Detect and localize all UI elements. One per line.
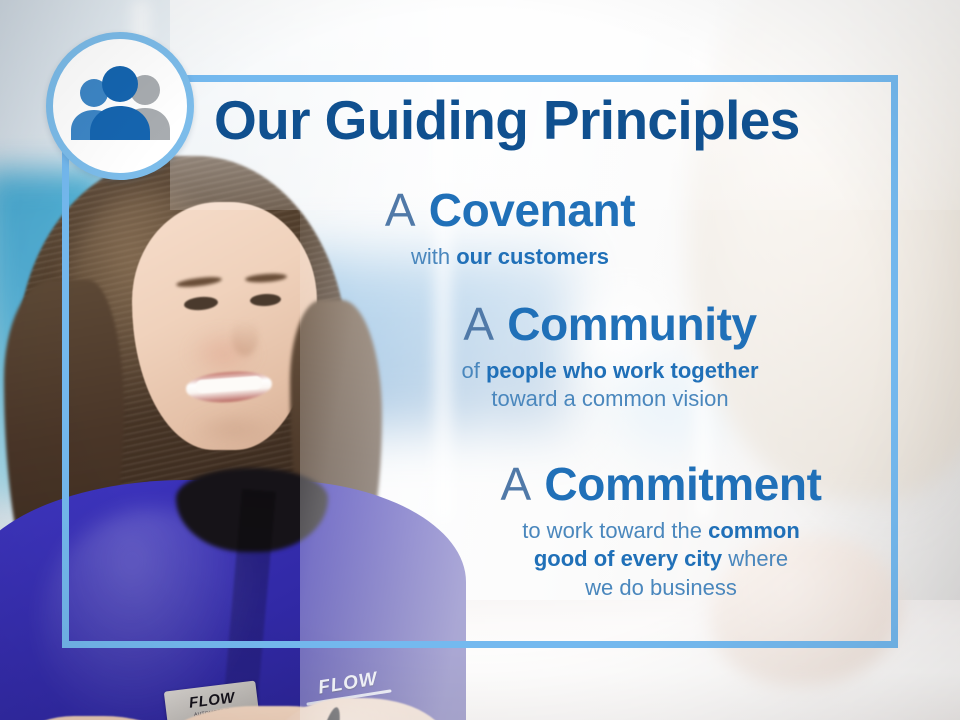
principle-commitment: A Commitment to work toward the commongo… <box>446 460 876 603</box>
chin-shadow <box>188 412 278 446</box>
subtitle-line: toward a common vision <box>400 385 820 414</box>
principle-article: A <box>463 298 494 350</box>
subtitle-line: with our customers <box>330 243 690 272</box>
principle-subtitle: with our customers <box>330 243 690 272</box>
nose <box>232 320 258 356</box>
principle-title: A Covenant <box>330 186 690 235</box>
subtitle-line: good of every city where <box>446 545 876 574</box>
principle-keyword: Covenant <box>429 184 635 236</box>
people-group-icon <box>66 66 174 146</box>
people-icon-badge <box>46 32 194 180</box>
principle-keyword: Community <box>507 298 756 350</box>
principle-community: A Community of people who work togethert… <box>400 300 820 414</box>
page-title: Our Guiding Principles <box>214 92 894 148</box>
principle-subtitle: of people who work togethertoward a comm… <box>400 357 820 414</box>
subtitle-line: of people who work together <box>400 357 820 386</box>
promo-banner: FLOW AUTOMOTIVE FLOW <box>0 0 960 720</box>
principle-title: A Commitment <box>446 460 876 509</box>
principle-title: A Community <box>400 300 820 349</box>
principle-keyword: Commitment <box>544 458 821 510</box>
principle-article: A <box>500 458 531 510</box>
subtitle-line: to work toward the common <box>446 517 876 546</box>
principle-article: A <box>385 184 416 236</box>
subtitle-line: we do business <box>446 574 876 603</box>
principle-covenant: A Covenant with our customers <box>330 186 690 271</box>
principle-subtitle: to work toward the commongood of every c… <box>446 517 876 603</box>
